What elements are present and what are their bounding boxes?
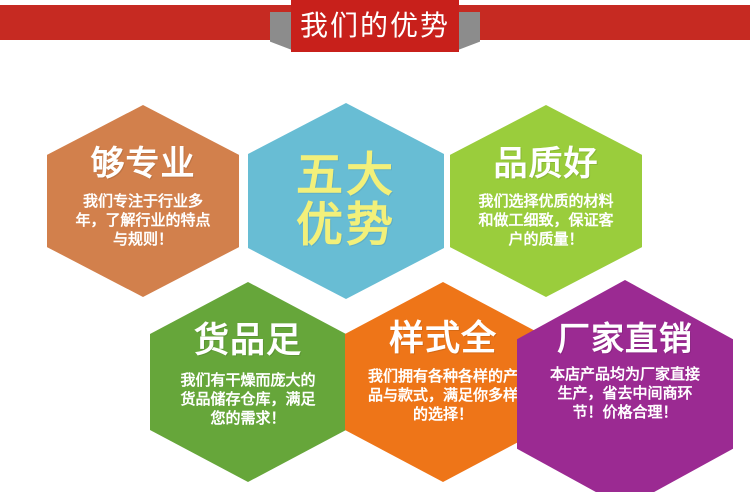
hexagon-center-line-1: 五大 xyxy=(296,151,396,201)
hexagon-factory-direct-title: 厂家直销 xyxy=(557,322,693,355)
banner-title: 我们的优势 xyxy=(300,12,450,40)
hexagon-stock-body: 我们有干燥而庞大的货品储存仓库，满足您的需求！ xyxy=(175,371,321,429)
hexagon-quality-body: 我们选择优质的材料和做工细致，保证客户的质量！ xyxy=(475,192,617,250)
banner: 我们的优势 xyxy=(0,0,750,58)
hexagon-factory-direct[interactable]: 厂家直销 本店产品均为厂家直接生产，省去中间商环节！价格合理！ xyxy=(517,280,733,492)
ribbon-tail-right-icon xyxy=(458,12,480,50)
hexagon-factory-direct-body: 本店产品均为厂家直接生产，省去中间商环节！价格合理！ xyxy=(549,365,701,423)
hexagon-stock[interactable]: 货品足 我们有干燥而庞大的货品储存仓库，满足您的需求！ xyxy=(150,282,346,482)
hexagon-styles-body: 我们拥有各种各样的产品与款式，满足你多样的选择！ xyxy=(368,367,518,425)
hexagon-center-headline[interactable]: 五大 优势 xyxy=(248,103,444,299)
hexagon-professional[interactable]: 够专业 我们专注于行业多年，了解行业的特点与规则！ xyxy=(47,105,239,297)
hexagon-stock-title: 货品足 xyxy=(194,324,302,359)
hexagon-styles-title: 样式全 xyxy=(389,322,497,357)
banner-center-plate: 我们的优势 xyxy=(291,0,459,52)
hexagon-styles[interactable]: 样式全 我们拥有各种各样的产品与款式，满足你多样的选择！ xyxy=(345,282,541,482)
ribbon-tail-left-icon xyxy=(270,12,292,50)
hexagon-quality[interactable]: 品质好 我们选择优质的材料和做工细致，保证客户的质量！ xyxy=(450,105,642,297)
hexagon-professional-body: 我们专注于行业多年，了解行业的特点与规则！ xyxy=(73,192,213,250)
hexagon-professional-title: 够专业 xyxy=(91,147,196,181)
advantages-infographic: 我们的优势 够专业 我们专注于行业多年，了解行业的特点与规则！ 五大 优势 品质… xyxy=(0,0,750,492)
hexagon-quality-title: 品质好 xyxy=(494,147,599,181)
hexagon-center-line-2: 优势 xyxy=(296,201,396,251)
